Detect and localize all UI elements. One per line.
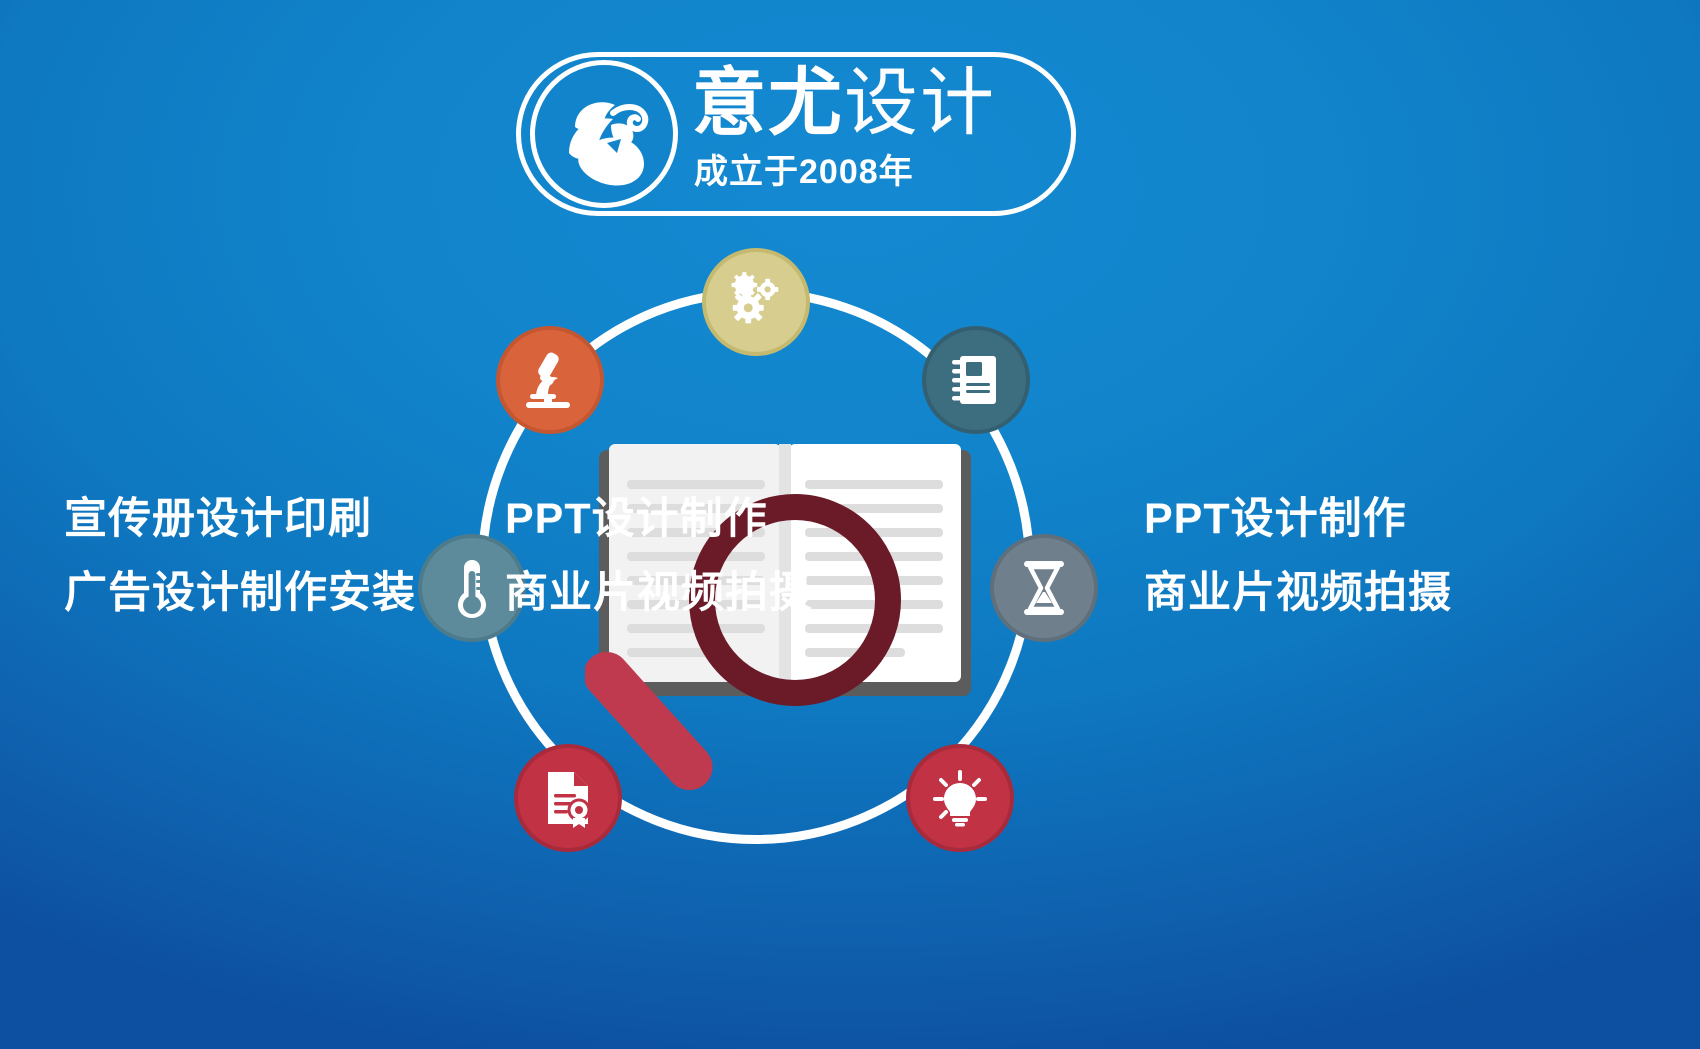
left-service-line-2: 广告设计制作安装 [64, 556, 416, 630]
node-notebook[interactable] [922, 326, 1030, 434]
right-service-text: PPT设计制作 商业片视频拍摄 [1144, 482, 1452, 630]
left-service-text: 宣传册设计印刷 广告设计制作安装 [64, 482, 416, 630]
middle-service-line-1: PPT设计制作 [505, 482, 813, 556]
right-service-line-2: 商业片视频拍摄 [1144, 556, 1452, 630]
logo-title-thin: 设计 [844, 61, 996, 144]
logo-subtitle: 成立于2008年 [694, 152, 914, 192]
middle-service-line-2: 商业片视频拍摄 [505, 556, 813, 630]
brand-logo: 意尤设计 成立于2008年 [516, 52, 1076, 216]
logo-text-group: 意尤设计 成立于2008年 [692, 66, 1064, 204]
logo-title: 意尤设计 [692, 62, 996, 144]
middle-service-text: PPT设计制作 商业片视频拍摄 [505, 482, 813, 630]
notebook-icon [948, 351, 1004, 409]
left-service-line-1: 宣传册设计印刷 [64, 482, 416, 556]
logo-title-bold: 意尤 [692, 61, 844, 144]
right-service-line-1: PPT设计制作 [1144, 482, 1452, 556]
node-microscope[interactable] [496, 326, 604, 434]
node-gears[interactable] [702, 248, 810, 356]
thermometer-icon [450, 557, 494, 619]
node-hourglass[interactable] [990, 534, 1098, 642]
microscope-icon [520, 350, 580, 410]
yiyou-bird-logo-icon [530, 60, 678, 208]
gears-icon [725, 271, 787, 333]
hourglass-icon [1019, 559, 1069, 617]
slide-canvas: 意尤设计 成立于2008年 [0, 0, 1700, 1049]
